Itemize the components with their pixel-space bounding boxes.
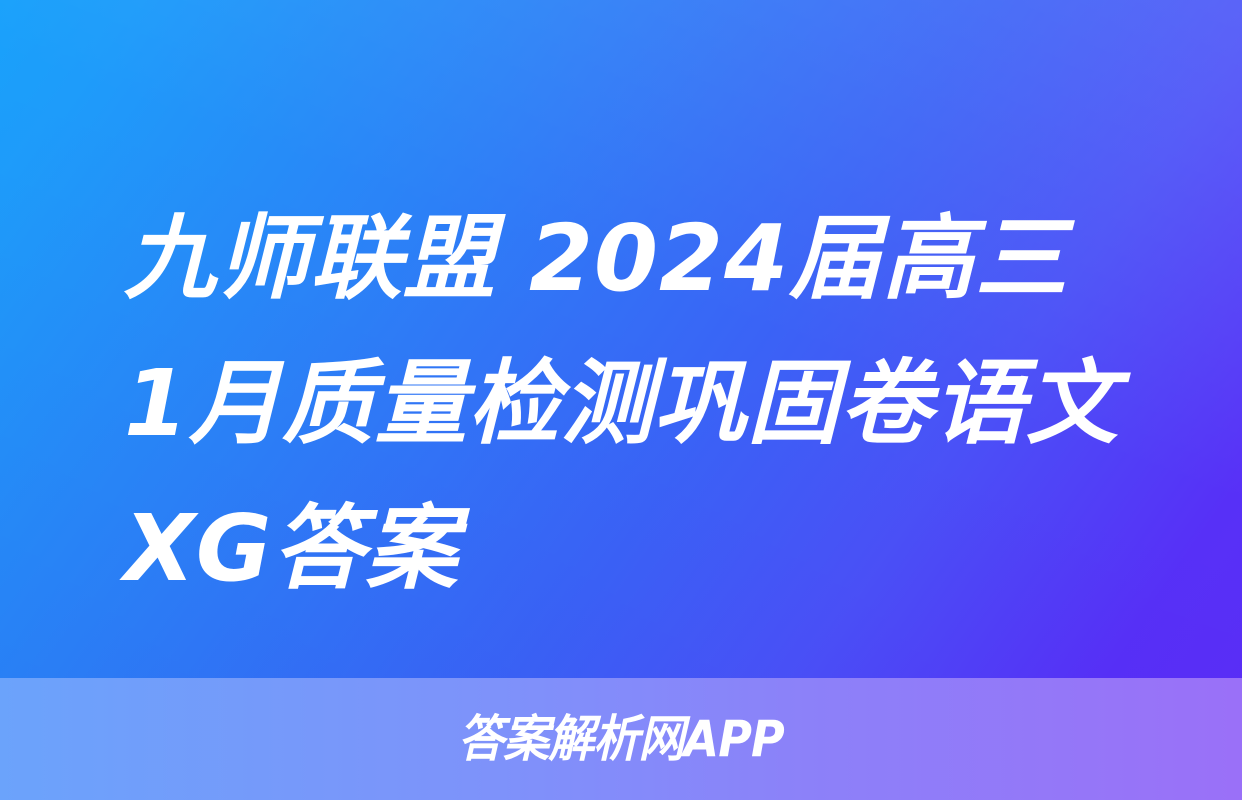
watermark-label: 答案解析网APP [458,714,784,764]
poster-card: 九师联盟 2024届高三1月质量检测巩固卷语文XG答案 答案解析网APP [0,0,1242,800]
page-title: 九师联盟 2024届高三1月质量检测巩固卷语文XG答案 [124,186,1124,621]
watermark-banner: 答案解析网APP [0,678,1242,800]
hero-gradient-panel: 九师联盟 2024届高三1月质量检测巩固卷语文XG答案 [0,0,1242,678]
